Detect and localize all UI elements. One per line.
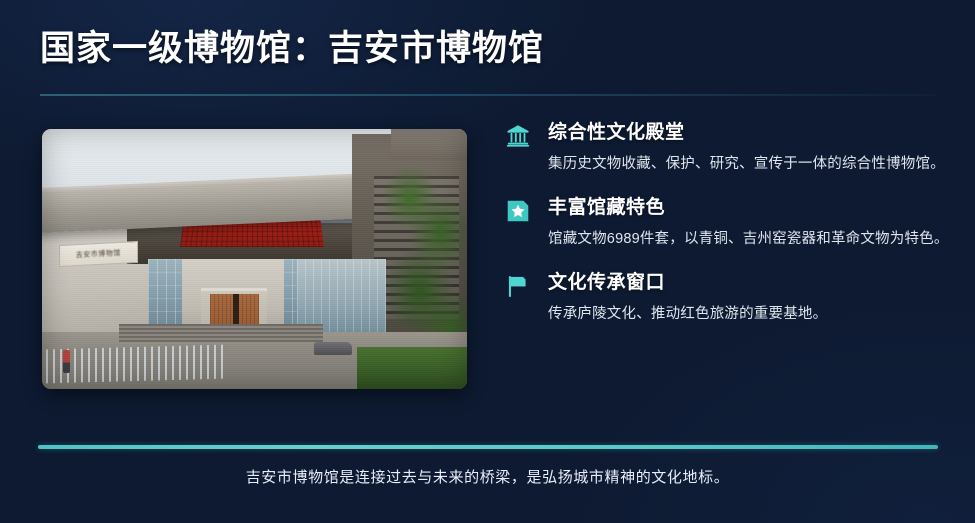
title-divider (40, 94, 935, 96)
feature-item-comprehensive-hall: 综合性文化殿堂 集历史文物收藏、保护、研究、宣传于一体的综合性博物馆。 (500, 120, 950, 177)
feature-description: 馆藏文物6989件套，以青铜、吉州窑瓷器和革命文物为特色。 (548, 227, 950, 252)
feature-item-culture-window: 文化传承窗口 传承庐陵文化、推动红色旅游的重要基地。 (500, 270, 950, 327)
photo-hedge (357, 347, 468, 389)
photo-person (63, 350, 70, 373)
photo-crowd-barriers (46, 345, 225, 383)
feature-item-rich-collection: 丰富馆藏特色 馆藏文物6989件套，以青铜、吉州窑瓷器和革命文物为特色。 (500, 195, 950, 252)
museum-icon (504, 122, 532, 150)
photo-parked-car (314, 342, 352, 355)
slide-root: 国家一级博物馆：吉安市博物馆 (0, 0, 975, 523)
museum-photo: 吉安市博物馆 (42, 129, 467, 389)
feature-title: 丰富馆藏特色 (548, 195, 950, 221)
feature-title: 综合性文化殿堂 (548, 120, 950, 146)
star-badge-icon (504, 197, 532, 225)
footer-divider (38, 445, 938, 449)
feature-description: 传承庐陵文化、推动红色旅游的重要基地。 (548, 302, 950, 327)
feature-list: 综合性文化殿堂 集历史文物收藏、保护、研究、宣传于一体的综合性博物馆。 丰富馆藏… (500, 120, 950, 327)
slide-footer: 吉安市博物馆是连接过去与未来的桥梁，是弘扬城市精神的文化地标。 (0, 423, 975, 523)
feature-title: 文化传承窗口 (548, 270, 950, 296)
photo-steps (119, 324, 323, 342)
photo-glass-curtain-wall-right (297, 259, 386, 332)
feature-description: 集历史文物收藏、保护、研究、宣传于一体的综合性博物馆。 (548, 152, 950, 177)
slide-header: 国家一级博物馆：吉安市博物馆 (40, 24, 935, 96)
page-title: 国家一级博物馆：吉安市博物馆 (40, 24, 935, 74)
museum-photo-illustration: 吉安市博物馆 (42, 129, 467, 389)
photo-building-sign-text: 吉安市博物馆 (76, 248, 121, 260)
footer-caption: 吉安市博物馆是连接过去与未来的桥梁，是弘扬城市精神的文化地标。 (0, 466, 975, 490)
flag-icon (504, 272, 532, 300)
slide-body: 吉安市博物馆 (0, 120, 975, 420)
photo-tower-top (391, 129, 468, 160)
